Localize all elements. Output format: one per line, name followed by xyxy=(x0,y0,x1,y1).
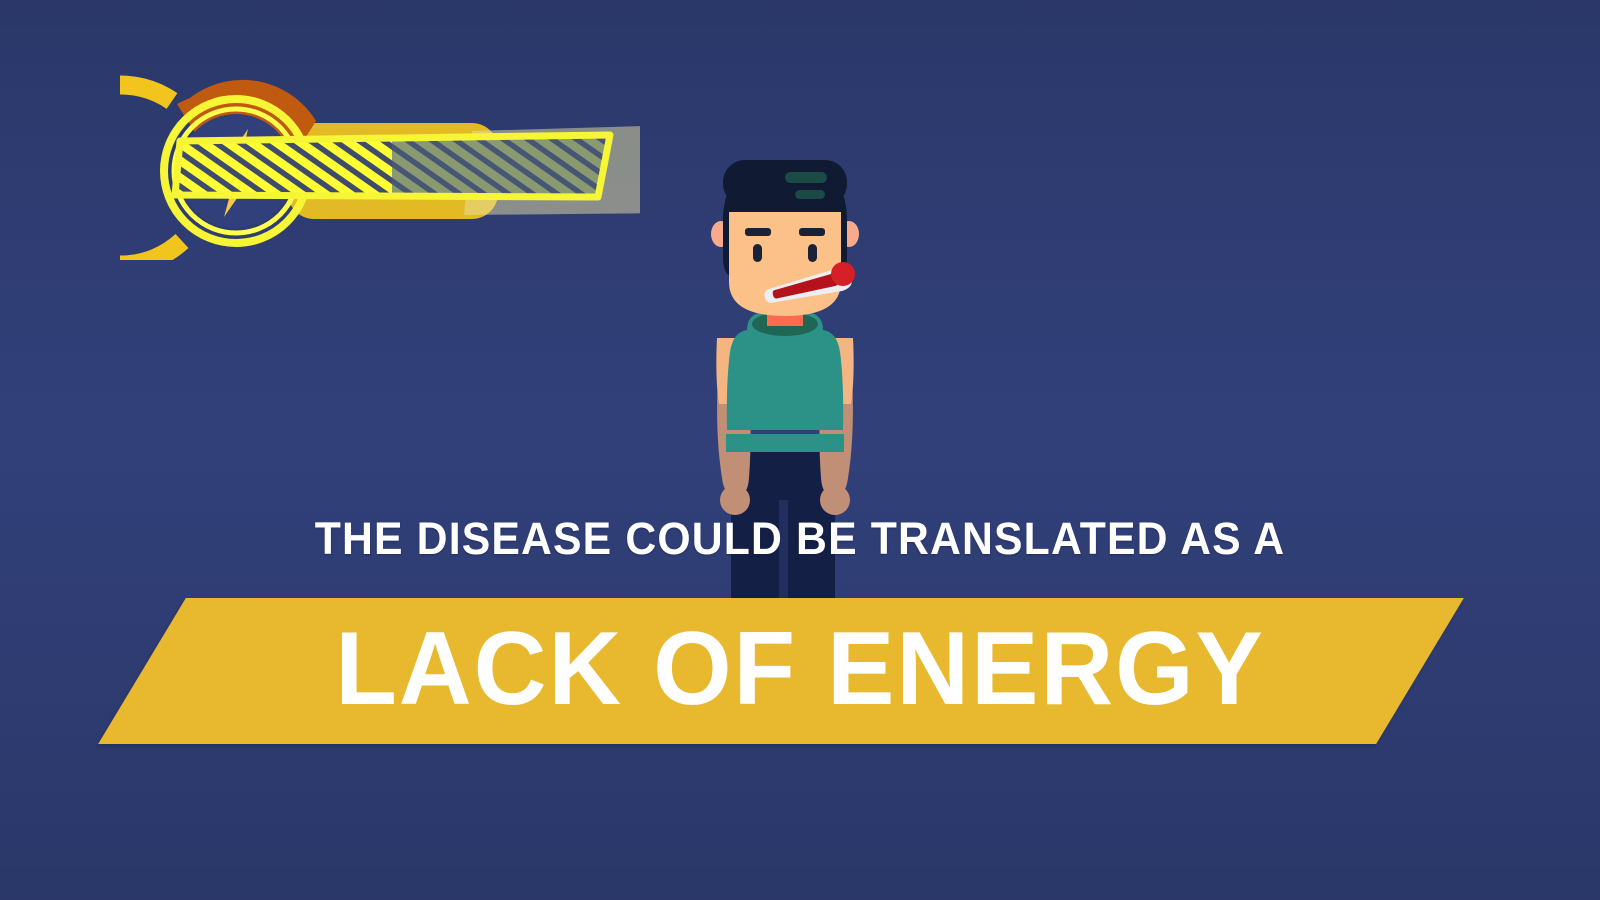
banner: LACK OF ENERGY xyxy=(0,596,1600,746)
right-eye xyxy=(808,244,817,262)
hair-highlight-1 xyxy=(785,172,827,183)
shirt-hem xyxy=(726,434,844,452)
energy-meter xyxy=(120,45,640,260)
hair-fringe-block xyxy=(723,160,847,206)
slide-canvas: THE DISEASE COULD BE TRANSLATED AS A LAC… xyxy=(0,0,1600,900)
left-hand xyxy=(720,485,750,515)
page-title: THE DISEASE COULD BE TRANSLATED AS A xyxy=(40,516,1560,561)
left-eye xyxy=(753,244,762,262)
energy-bar xyxy=(160,125,632,209)
right-hand xyxy=(820,485,850,515)
banner-label: LACK OF ENERGY xyxy=(24,596,1576,746)
left-eyebrow xyxy=(745,228,771,236)
hair-highlight-2 xyxy=(795,190,825,199)
right-eyebrow xyxy=(799,228,825,236)
